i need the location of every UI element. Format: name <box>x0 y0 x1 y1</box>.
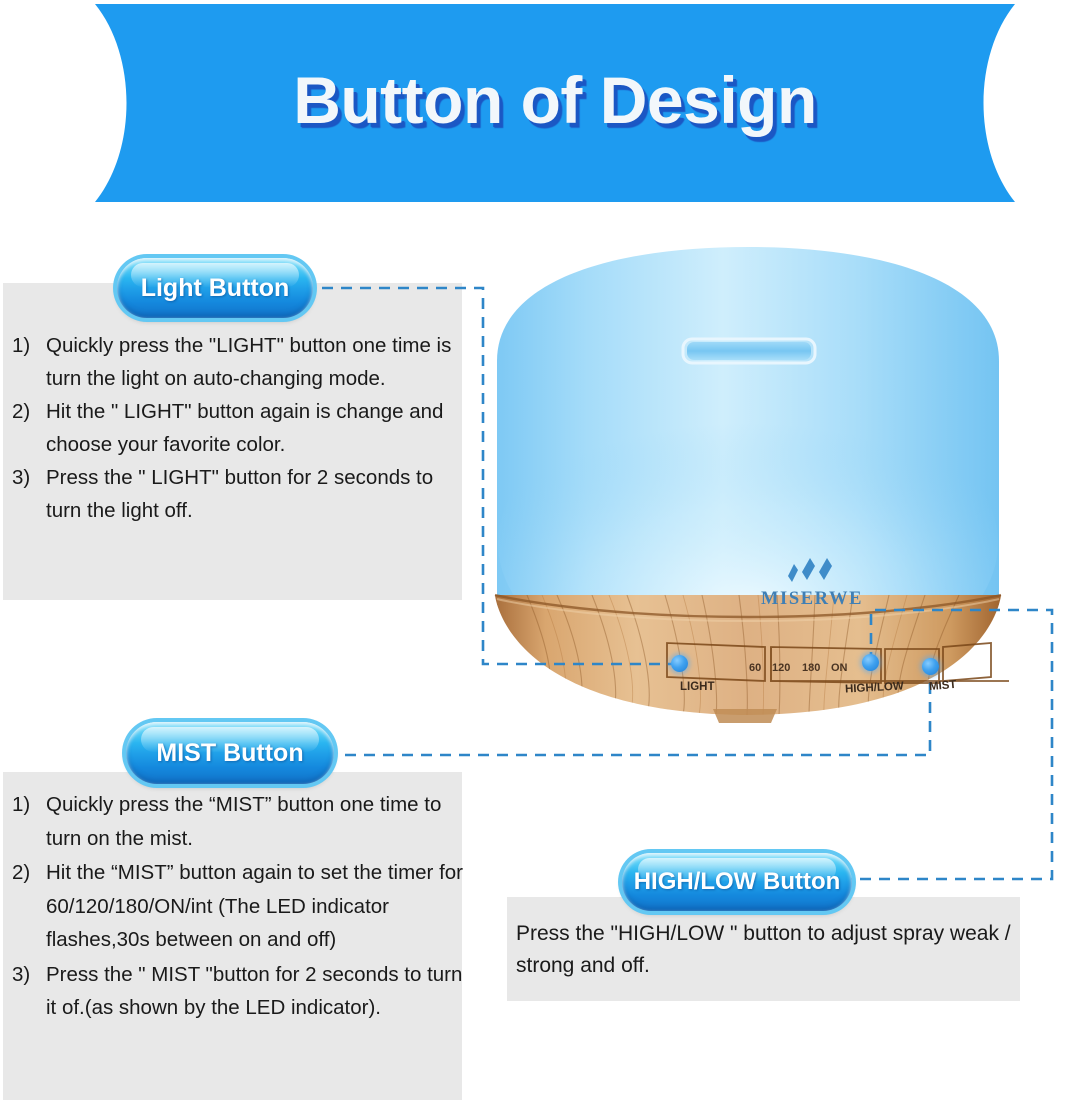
step-number: 2) <box>12 856 46 957</box>
list-item: 2) Hit the “MIST” button again to set th… <box>12 856 464 957</box>
highlow-button-badge[interactable]: HIGH/LOW Button <box>622 853 852 911</box>
mist-badge-label: MIST Button <box>156 739 303 768</box>
mist-button-badge[interactable]: MIST Button <box>126 722 334 784</box>
step-number: 3) <box>12 958 46 1025</box>
highlow-instruction-text: Press the "HIGH/LOW " button to adjust s… <box>516 918 1016 982</box>
list-item: 3) Press the " MIST "button for 2 second… <box>12 958 464 1025</box>
list-item: 2) Hit the " LIGHT" button again is chan… <box>12 396 460 461</box>
list-item: 1) Quickly press the "LIGHT" button one … <box>12 330 460 395</box>
base-foot <box>713 709 777 723</box>
header-banner: Button of Design <box>95 4 1015 202</box>
step-number: 2) <box>12 396 46 461</box>
mist-instruction-list: 1) Quickly press the “MIST” button one t… <box>12 788 464 1026</box>
step-text: Hit the " LIGHT" button again is change … <box>46 396 460 461</box>
step-number: 1) <box>12 330 46 395</box>
step-text: Quickly press the “MIST” button one time… <box>46 788 464 855</box>
page-title: Button of Design <box>95 4 1015 202</box>
light-led-indicator[interactable] <box>671 655 688 672</box>
step-text: Quickly press the "LIGHT" button one tim… <box>46 330 460 395</box>
list-item: 1) Quickly press the “MIST” button one t… <box>12 788 464 855</box>
step-number: 3) <box>12 462 46 527</box>
light-button-badge[interactable]: Light Button <box>117 258 313 318</box>
step-number: 1) <box>12 788 46 855</box>
list-item: 3) Press the " LIGHT" button for 2 secon… <box>12 462 460 527</box>
step-text: Hit the “MIST” button again to set the t… <box>46 856 464 957</box>
mist-led-indicator[interactable] <box>922 658 939 675</box>
light-badge-label: Light Button <box>141 274 290 303</box>
highlow-badge-label: HIGH/LOW Button <box>634 868 841 896</box>
step-text: Press the " MIST "button for 2 seconds t… <box>46 958 464 1025</box>
highlow-led-indicator[interactable] <box>862 654 879 671</box>
mist-outlet-slot <box>683 339 815 363</box>
step-text: Press the " LIGHT" button for 2 seconds … <box>46 462 460 527</box>
light-instruction-list: 1) Quickly press the "LIGHT" button one … <box>12 330 460 528</box>
